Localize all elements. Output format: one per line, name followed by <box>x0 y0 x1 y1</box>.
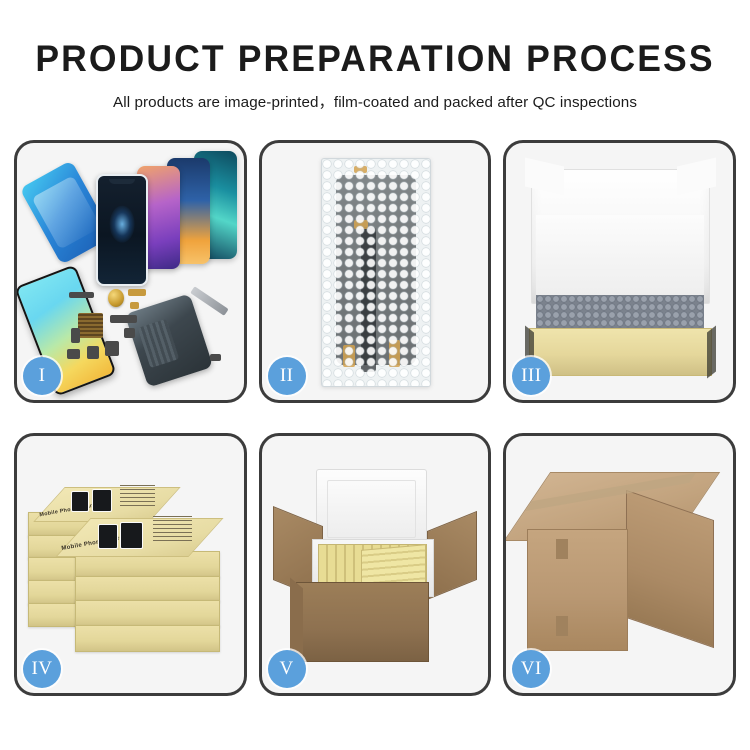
step-badge-4: IV <box>23 650 61 688</box>
page-title: PRODUCT PREPARATION PROCESS <box>15 40 735 77</box>
box-foam-liner <box>536 215 704 302</box>
outer-carton-body <box>296 582 429 661</box>
step-panel-1[interactable]: I <box>14 140 247 403</box>
box-window-front-1 <box>98 524 118 549</box>
stacked-box-r2 <box>75 576 220 603</box>
foam-lid-image <box>316 469 427 548</box>
product-preparation-infographic: PRODUCT PREPARATION PROCESS All products… <box>0 0 750 750</box>
box-spec-lines-front <box>153 514 192 541</box>
box-window-back-1 <box>71 491 89 512</box>
box-spec-lines-back <box>120 483 155 506</box>
step-badge-5: V <box>268 650 306 688</box>
speaker-component-icon <box>108 289 124 307</box>
sim-tray-component <box>124 328 135 338</box>
stacked-box-r3 <box>75 600 220 627</box>
gold-connector-component <box>128 289 146 295</box>
bubble-wrap-bag-image <box>321 158 432 386</box>
carton-seam-upper <box>556 539 567 560</box>
gold-bracket-component <box>130 302 139 308</box>
step-panel-3[interactable]: III <box>503 140 736 403</box>
step-panel-6[interactable]: VI <box>503 433 736 696</box>
taptic-component <box>105 341 119 356</box>
step-badge-2: II <box>268 357 306 395</box>
step-panel-4[interactable]: Mobile Phone Spare Parts Mobile Phone Sp… <box>14 433 247 696</box>
box-window-front-2 <box>120 522 142 549</box>
vibrator-component <box>87 346 98 359</box>
process-steps-grid: I II <box>14 140 736 696</box>
bubble-texture <box>322 159 431 385</box>
page-subtitle: All products are image-printed，film-coat… <box>0 90 750 112</box>
stacked-box-r4 <box>75 625 220 652</box>
button-component <box>71 328 80 343</box>
screw-component <box>210 354 221 362</box>
camera-component <box>67 349 81 359</box>
carton-front-face <box>527 529 629 652</box>
screen-glass-image <box>96 174 148 286</box>
carton-side-face <box>626 490 714 648</box>
screwdriver-tool-image <box>191 286 229 315</box>
header: PRODUCT PREPARATION PROCESS All products… <box>0 0 750 112</box>
step-panel-2[interactable]: II <box>259 140 492 403</box>
antenna-flex-component <box>110 315 137 323</box>
flex-cable-component <box>69 292 94 298</box>
carton-seam-lower <box>556 616 567 637</box>
box-window-back-2 <box>92 489 112 512</box>
step-badge-1: I <box>23 357 61 395</box>
step-panel-5[interactable]: V <box>259 433 492 696</box>
kraft-box-base-image <box>529 328 712 376</box>
ic-chip-component <box>78 313 103 339</box>
box-stack-image: Mobile Phone Spare Parts Mobile Phone Sp… <box>28 467 232 673</box>
carton-flap-right <box>427 511 477 600</box>
